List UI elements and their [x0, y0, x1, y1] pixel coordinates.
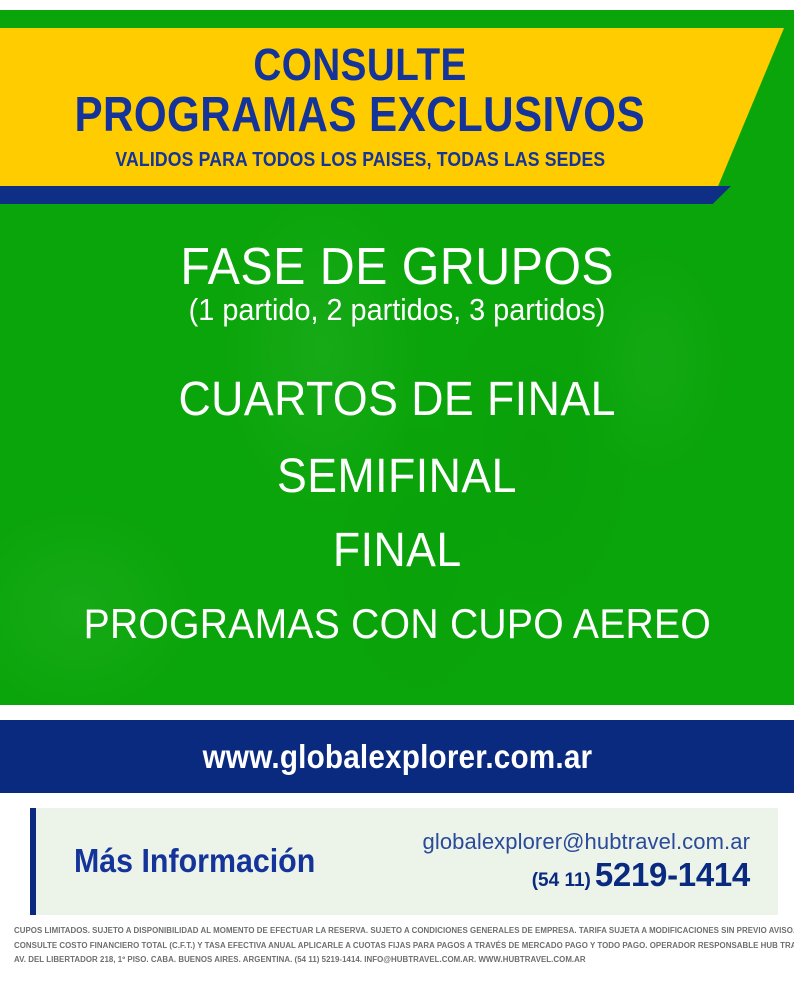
- contact-details-group: globalexplorer@hubtravel.com.ar (54 11) …: [366, 829, 778, 894]
- contact-phone-number: 5219-1414: [595, 856, 750, 894]
- offers-list: FASE DE GRUPOS (1 partido, 2 partidos, 3…: [0, 204, 794, 705]
- contact-phone[interactable]: (54 11) 5219-1414: [532, 856, 750, 894]
- banner-subheadline: VALIDOS PARA TODOS LOS PAISES, TODAS LAS…: [115, 148, 605, 172]
- contact-panel: Más Información globalexplorer@hubtravel…: [36, 808, 778, 915]
- flyer-root: CONSULTE PROGRAMAS EXCLUSIVOS VALIDOS PA…: [0, 0, 794, 991]
- website-band[interactable]: www.globalexplorer.com.ar: [0, 720, 794, 793]
- offer-item-semifinal: SEMIFINAL: [277, 452, 517, 502]
- legal-fineprint: CUPOS LIMITADOS. SUJETO A DISPONIBILIDAD…: [14, 924, 772, 968]
- contact-email[interactable]: globalexplorer@hubtravel.com.ar: [423, 829, 750, 854]
- contact-label: Más Información: [74, 843, 343, 879]
- banner-blue-underline-shape: [0, 186, 731, 204]
- offer-item-final: FINAL: [333, 526, 462, 576]
- offers-section: FASE DE GRUPOS (1 partido, 2 partidos, 3…: [0, 204, 794, 705]
- contact-label-group: Más Información: [36, 843, 366, 879]
- legal-fineprint-line-3: AV. DEL LIBERTADOR 218, 1º PISO. CABA. B…: [14, 953, 772, 968]
- offer-item-cupo-aereo: PROGRAMAS CON CUPO AEREO: [83, 602, 710, 646]
- offer-item-cuartos-de-final: CUARTOS DE FINAL: [178, 375, 615, 425]
- banner-headline-1: CONSULTE: [253, 42, 466, 88]
- contact-phone-prefix: (54 11): [532, 870, 591, 892]
- offer-item-fase-de-grupos: FASE DE GRUPOS: [180, 240, 614, 295]
- website-url[interactable]: www.globalexplorer.com.ar: [202, 738, 592, 776]
- banner-headline-2: PROGRAMAS EXCLUSIVOS: [75, 90, 646, 141]
- legal-fineprint-line-1: CUPOS LIMITADOS. SUJETO A DISPONIBILIDAD…: [14, 924, 772, 939]
- header-banner-text: CONSULTE PROGRAMAS EXCLUSIVOS VALIDOS PA…: [0, 28, 720, 186]
- header-banner-zone: CONSULTE PROGRAMAS EXCLUSIVOS VALIDOS PA…: [0, 10, 794, 204]
- offer-item-fase-de-grupos-detail: (1 partido, 2 partidos, 3 partidos): [189, 293, 606, 328]
- legal-fineprint-line-2: CONSULTE COSTO FINANCIERO TOTAL (C.F.T.)…: [14, 939, 772, 954]
